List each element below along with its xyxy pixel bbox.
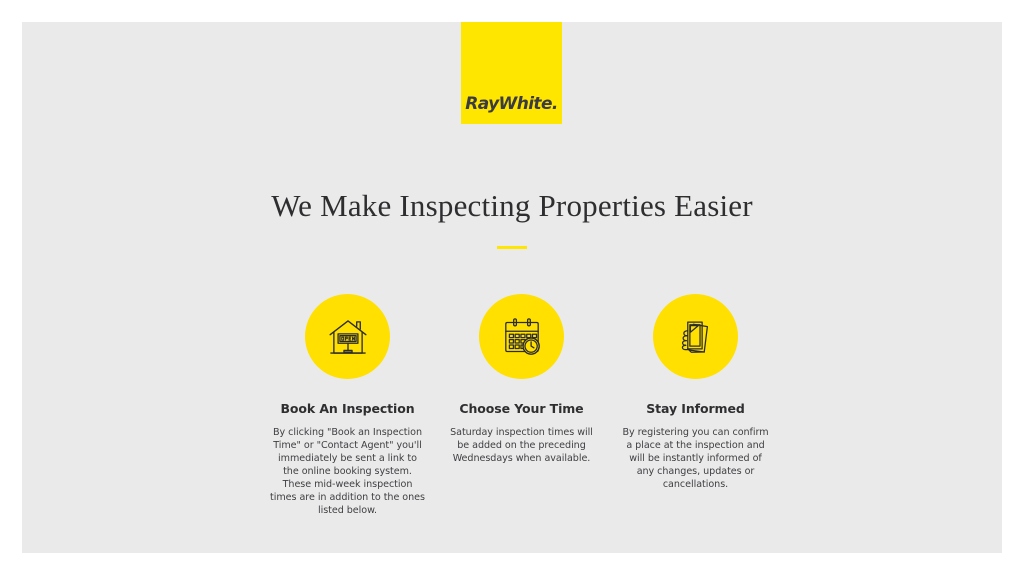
feature-description: Saturday inspection times will be added … — [446, 427, 598, 466]
heading-divider — [497, 246, 527, 249]
feature-item-book-an-inspection: Book An Inspection By clicking "Book an … — [270, 294, 425, 518]
feature-icon-circle — [305, 294, 390, 379]
brand-logo-text: RayWhite. — [465, 96, 558, 113]
feature-item-choose-your-time: Choose Your Time Saturday inspection tim… — [444, 294, 599, 466]
feature-icon-circle — [479, 294, 564, 379]
feature-title: Book An Inspection — [270, 401, 425, 416]
feature-icon-circle — [653, 294, 738, 379]
feature-description: By registering you can confirm a place a… — [620, 427, 772, 492]
feature-item-stay-informed: Stay Informed By registering you can con… — [618, 294, 773, 492]
hero-section: We Make Inspecting Properties Easier — [22, 188, 1002, 249]
content-panel: RayWhite. We Make Inspecting Properties … — [22, 22, 1002, 553]
feature-title: Choose Your Time — [444, 401, 599, 416]
page-title: We Make Inspecting Properties Easier — [22, 188, 1002, 224]
feature-list: Book An Inspection By clicking "Book an … — [270, 294, 773, 518]
page-root: RayWhite. We Make Inspecting Properties … — [0, 0, 1024, 576]
hand-holding-phone-icon — [675, 315, 717, 359]
brand-logo-tile[interactable]: RayWhite. — [461, 22, 562, 124]
feature-title: Stay Informed — [618, 401, 773, 416]
calendar-clock-icon — [501, 316, 543, 358]
house-open-sign-icon — [326, 315, 370, 359]
feature-description: By clicking "Book an Inspection Time" or… — [270, 427, 425, 518]
